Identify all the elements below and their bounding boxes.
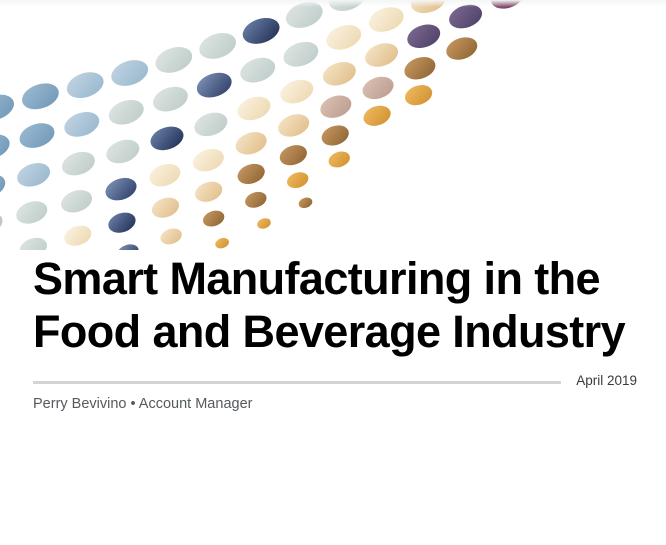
presenter-byline: Perry Bevivino • Account Manager <box>33 394 252 414</box>
title-meta-row: April 2019 <box>33 372 637 396</box>
top-sheen-band <box>0 0 666 7</box>
title-line-2: Food and Beverage Industry <box>33 305 638 358</box>
title-divider-rule <box>33 381 561 384</box>
title-line-1: Smart Manufacturing in the <box>33 252 638 305</box>
page-title: Smart Manufacturing in the Food and Beve… <box>33 252 638 358</box>
slide-date: April 2019 <box>576 372 637 390</box>
title-slide: Smart Manufacturing in the Food and Beve… <box>0 0 666 545</box>
halftone-dot-swoosh-decoration <box>0 0 666 250</box>
